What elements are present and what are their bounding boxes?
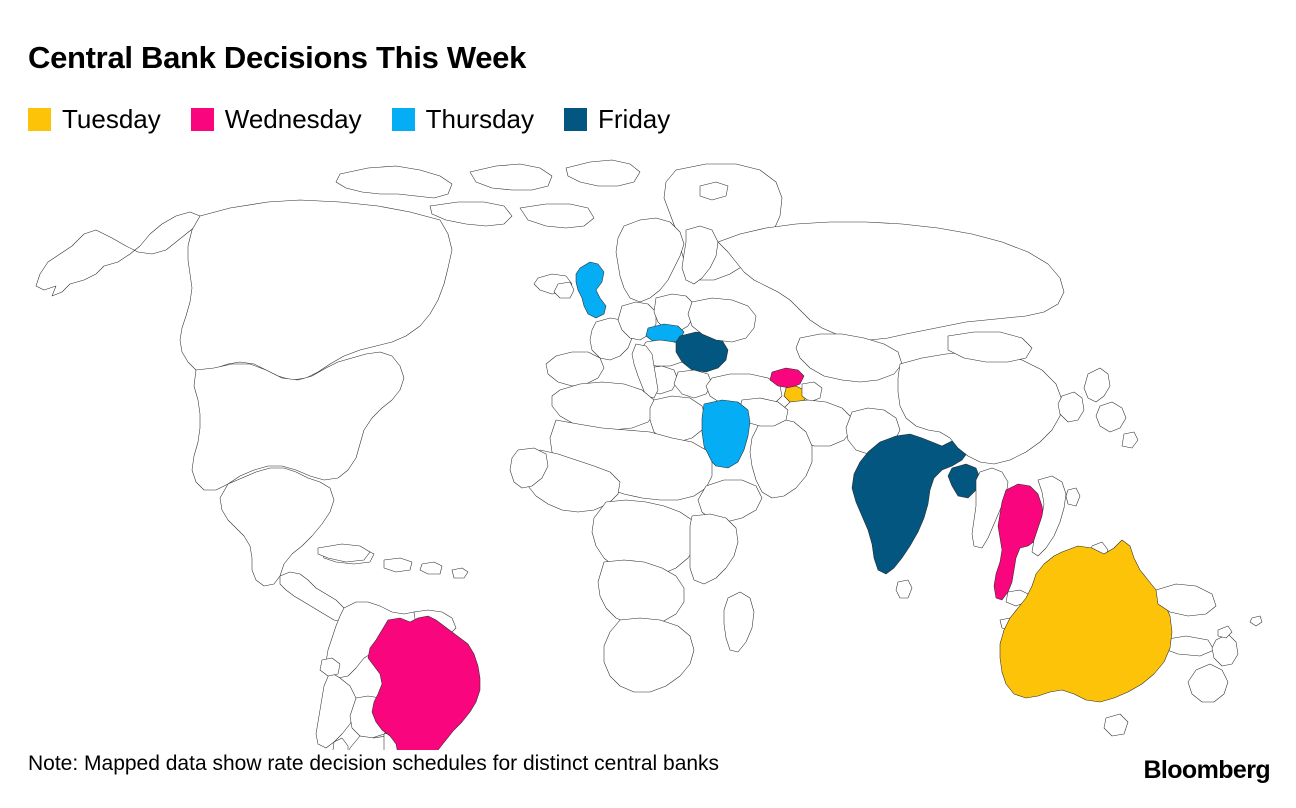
island-cuba[interactable] [318,544,370,562]
footnote: Note: Mapped data show rate decision sch… [28,752,719,776]
legend-item-tuesday[interactable]: Tuesday [28,106,161,132]
legend-label-wednesday: Wednesday [225,106,362,132]
country-brazil[interactable] [368,616,480,750]
country-arabia[interactable] [750,418,812,498]
legend-swatch-friday [564,108,587,131]
world-map-svg[interactable] [0,150,1296,750]
legend-label-tuesday: Tuesday [62,106,161,132]
legend-label-thursday: Thursday [426,106,534,132]
country-central-america[interactable] [280,572,350,622]
chart-canvas: Central Bank Decisions This Week Tuesday… [0,0,1296,808]
country-southafrica[interactable] [604,618,694,692]
country-eastafrica[interactable] [690,514,738,584]
country-peru[interactable] [316,672,356,748]
country-greece-bulgaria[interactable] [674,370,712,398]
country-alaska[interactable] [36,212,200,296]
legend-item-friday[interactable]: Friday [564,106,670,132]
country-sri-lanka[interactable] [896,580,912,598]
country-spain-portugal[interactable] [546,352,604,386]
legend-item-wednesday[interactable]: Wednesday [191,106,362,132]
island-taiwan[interactable] [1066,488,1080,506]
legend-swatch-tuesday [28,108,51,131]
island-fiji-pacific[interactable] [1250,616,1262,626]
bloomberg-logo: Bloomberg [1143,756,1270,785]
page-title: Central Bank Decisions This Week [28,40,526,76]
country-canada[interactable] [180,200,452,380]
country-japan[interactable] [1084,368,1138,448]
country-norway-sweden-finland[interactable] [616,218,718,302]
country-australia[interactable] [1000,540,1172,702]
country-united-kingdom[interactable] [576,262,606,318]
legend: Tuesday Wednesday Thursday Friday [28,104,670,134]
legend-item-thursday[interactable]: Thursday [392,106,534,132]
island-tasmania[interactable] [1104,714,1128,736]
country-india[interactable] [852,434,968,574]
legend-swatch-thursday [392,108,415,131]
country-korea[interactable] [1058,392,1084,422]
legend-label-friday: Friday [598,106,670,132]
country-russia[interactable] [718,222,1064,340]
legend-swatch-wednesday [191,108,214,131]
country-mexico[interactable] [220,468,334,586]
country-bangladesh[interactable] [948,464,980,498]
country-madagascar[interactable] [724,592,754,652]
world-choropleth-map[interactable] [0,150,1296,750]
country-kazakhstan-centralasia[interactable] [796,334,902,382]
